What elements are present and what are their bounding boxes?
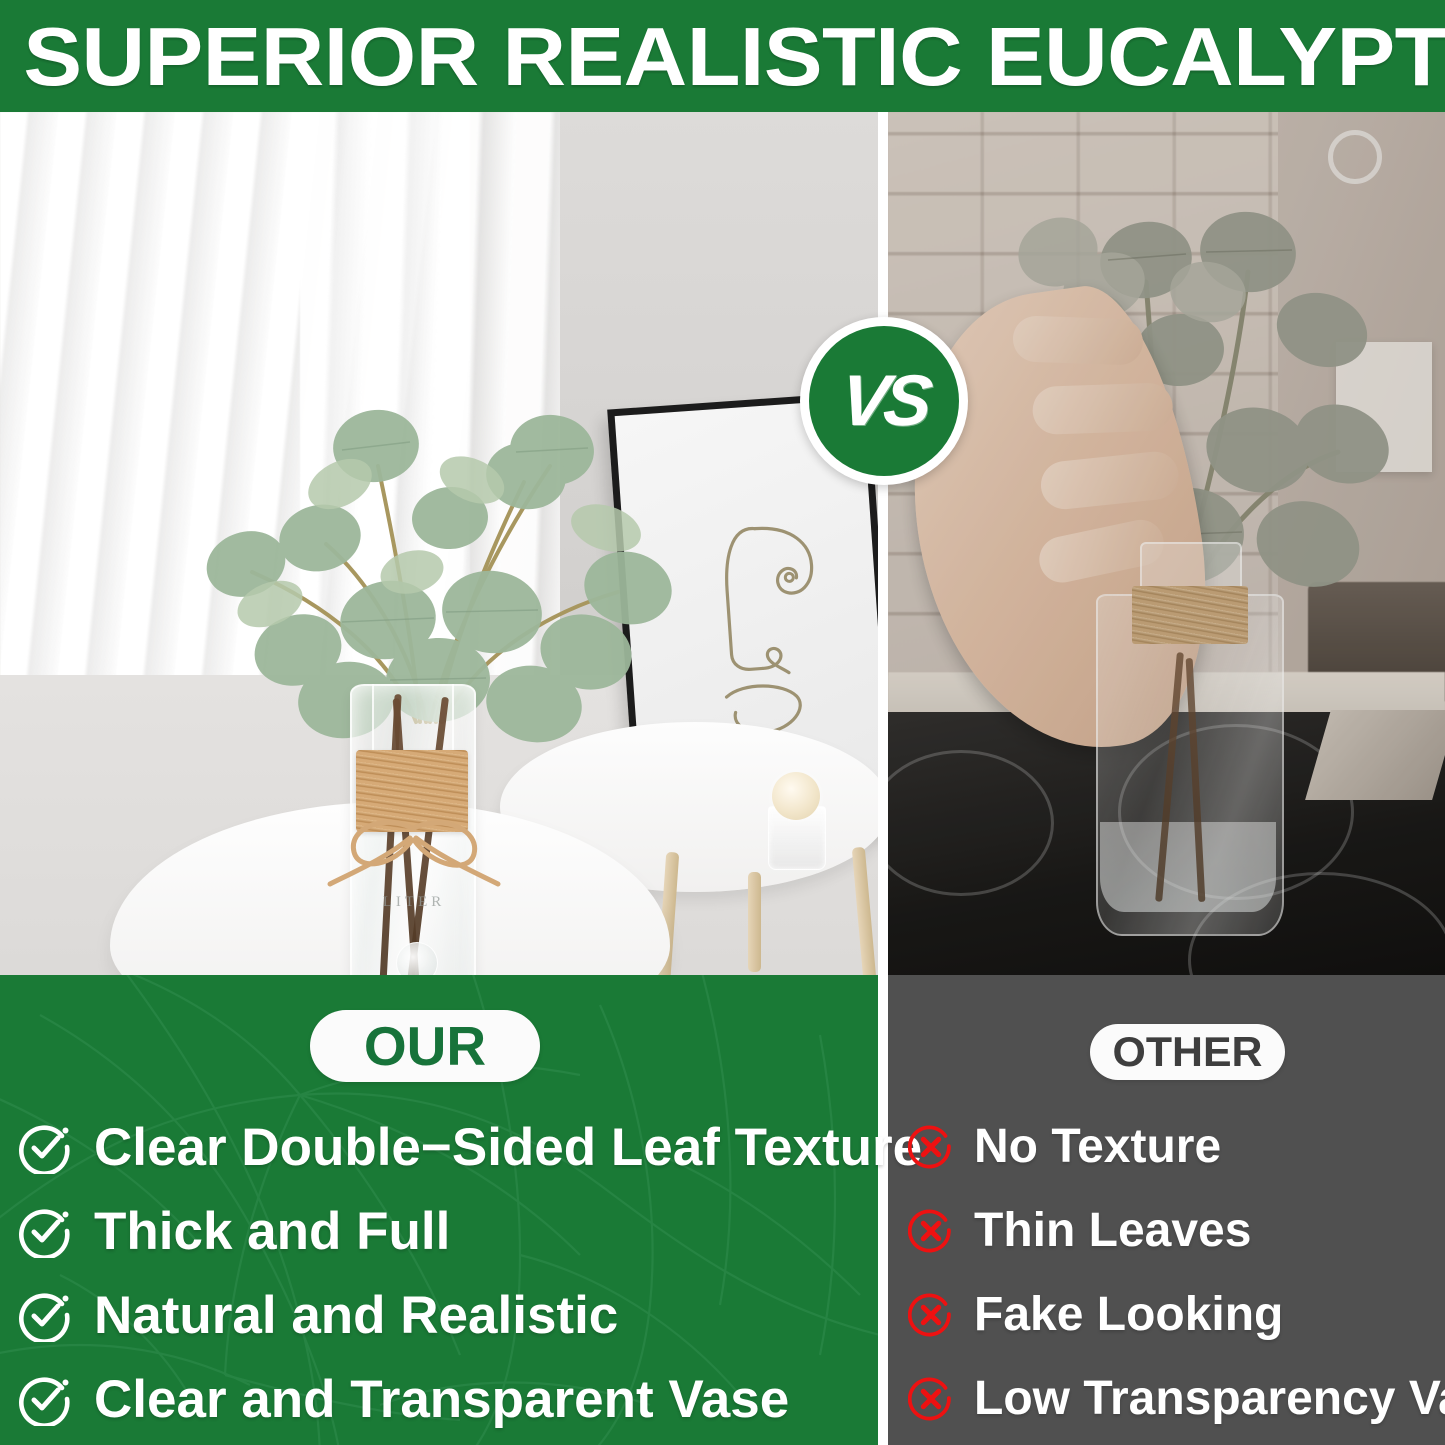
comparison-infographic: SUPERIOR REALISTIC EUCALYPTUS Line Decor… <box>0 0 1445 1445</box>
dried-pom-flower <box>772 772 820 820</box>
x-circle-icon <box>908 1208 954 1254</box>
list-item-label: Thick and Full <box>94 1205 450 1258</box>
table-leg <box>748 872 761 972</box>
list-item: Low Transparency Vase <box>890 1357 1445 1441</box>
list-item: Thick and Full <box>0 1189 878 1273</box>
header-banner: SUPERIOR REALISTIC EUCALYPTUS <box>0 0 1445 112</box>
photo-tint <box>888 112 1445 975</box>
other-label-pill: OTHER <box>1090 1024 1285 1080</box>
check-circle-icon <box>18 1204 72 1258</box>
list-item-label: Natural and Realistic <box>94 1289 618 1342</box>
glass-vase: LITER <box>338 684 484 975</box>
panel-divider <box>878 975 888 1445</box>
list-item-label: Clear Double−Sided Leaf Texture <box>94 1121 922 1174</box>
eucalyptus-sprigs-icon <box>120 252 740 722</box>
check-circle-icon <box>18 1372 72 1426</box>
x-circle-icon <box>908 1292 954 1338</box>
list-item: Thin Leaves <box>890 1189 1445 1273</box>
check-circle-icon <box>18 1120 72 1174</box>
jute-bow-icon <box>324 810 502 900</box>
list-item-label: Fake Looking <box>974 1291 1283 1339</box>
other-product-photo <box>888 112 1445 975</box>
list-item-label: Clear and Transparent Vase <box>94 1373 789 1426</box>
list-item-label: Thin Leaves <box>974 1207 1251 1255</box>
list-item: Fake Looking <box>890 1273 1445 1357</box>
other-label-text: OTHER <box>1113 1031 1263 1073</box>
our-label-text: OUR <box>364 1019 486 1074</box>
photo-divider <box>878 112 888 975</box>
list-item: Clear Double−Sided Leaf Texture <box>0 1105 878 1189</box>
other-feature-list: No Texture Thin Leaves Fake Looking Low … <box>890 1105 1445 1441</box>
our-product-photo: Line Decorative Paintsvli <box>0 112 878 975</box>
our-feature-list: Clear Double−Sided Leaf Texture Thick an… <box>0 1105 878 1441</box>
page-title: SUPERIOR REALISTIC EUCALYPTUS <box>0 15 1445 98</box>
list-item: Natural and Realistic <box>0 1273 878 1357</box>
x-circle-icon <box>908 1376 954 1422</box>
list-item: No Texture <box>890 1105 1445 1189</box>
photo-comparison-row: Line Decorative Paintsvli <box>0 112 1445 975</box>
x-circle-icon <box>908 1124 954 1170</box>
list-item-label: Low Transparency Vase <box>974 1375 1445 1423</box>
vs-label: VS <box>837 365 931 437</box>
list-item: Clear and Transparent Vase <box>0 1357 878 1441</box>
vs-badge: VS <box>800 317 968 485</box>
check-circle-icon <box>18 1288 72 1342</box>
our-label-pill: OUR <box>310 1010 540 1082</box>
list-item-label: No Texture <box>974 1123 1221 1171</box>
